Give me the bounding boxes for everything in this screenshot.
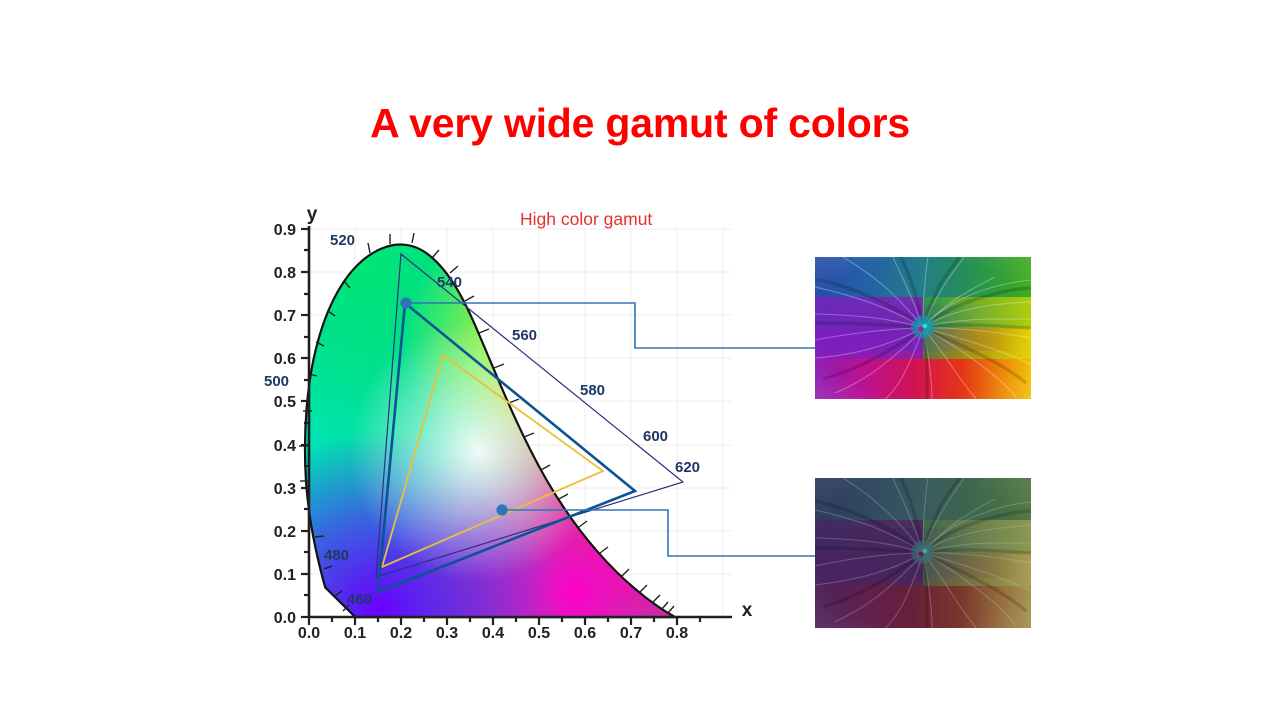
y-axis-title: y: [307, 206, 318, 225]
y-tick-label: 0.5: [274, 394, 296, 411]
y-tick-labels: 0.9 0.8 0.7 0.6 0.5 0.4 0.3 0.2 0.1 0.0: [274, 222, 296, 627]
x-tick-label: 0.7: [620, 625, 642, 638]
wavelength-label-600: 600: [643, 428, 668, 445]
spiral-high-gamut-svg: [815, 257, 1031, 399]
x-tick-label: 0.1: [344, 625, 366, 638]
wavelength-label-520: 520: [330, 232, 355, 249]
y-tick-label: 0.8: [274, 265, 296, 282]
y-tick-label: 0.7: [274, 308, 296, 325]
slide-canvas: A very wide gamut of colors High color g…: [0, 0, 1280, 720]
y-tick-label: 0.6: [274, 351, 296, 368]
x-tick-label: 0.3: [436, 625, 458, 638]
y-tick-label: 0.3: [274, 481, 296, 498]
x-tick-label: 0.5: [528, 625, 550, 638]
y-tick-label: 0.2: [274, 524, 296, 541]
wavelength-label-500: 500: [264, 373, 289, 390]
y-tick-label: 0.9: [274, 222, 296, 239]
spiral-low-gamut-image: [815, 478, 1031, 628]
wavelength-label-560: 560: [512, 327, 537, 344]
spiral-low-gamut-svg: [815, 478, 1031, 628]
wavelength-label-480: 480: [324, 547, 349, 564]
standard-gamut-marker-dot[interactable]: [496, 504, 507, 515]
x-tick-label: 0.6: [574, 625, 596, 638]
x-tick-labels: 0.0 0.1 0.2 0.3 0.4 0.5 0.6 0.7 0.8: [298, 625, 688, 638]
x-tick-label: 0.8: [666, 625, 688, 638]
wide-gamut-marker-dot[interactable]: [400, 297, 411, 308]
x-tick-label: 0.4: [482, 625, 504, 638]
y-tick-label: 0.0: [274, 610, 296, 627]
wavelength-label-540: 540: [437, 274, 462, 291]
page-title: A very wide gamut of colors: [0, 100, 1280, 147]
wavelength-label-460: 460: [347, 591, 372, 608]
x-tick-label: 0.0: [298, 625, 320, 638]
wavelength-label-580: 580: [580, 382, 605, 399]
gamut-color-field: [302, 226, 692, 621]
wavelength-label-620: 620: [675, 459, 700, 476]
cie-chromaticity-chart: 0.9 0.8 0.7 0.6 0.5 0.4 0.3 0.2 0.1 0.0 …: [262, 206, 762, 638]
spiral-arms-group: [815, 257, 1031, 399]
x-tick-label: 0.2: [390, 625, 412, 638]
y-tick-label: 0.4: [274, 438, 296, 455]
x-axis-title: x: [742, 600, 753, 621]
spiral-high-gamut-image: [815, 257, 1031, 399]
connector-bridge-svg: [762, 206, 822, 638]
y-tick-label: 0.1: [274, 567, 296, 584]
chromaticity-diagram-svg: 0.9 0.8 0.7 0.6 0.5 0.4 0.3 0.2 0.1 0.0 …: [262, 206, 762, 638]
spiral-arms-group: [815, 478, 1031, 628]
